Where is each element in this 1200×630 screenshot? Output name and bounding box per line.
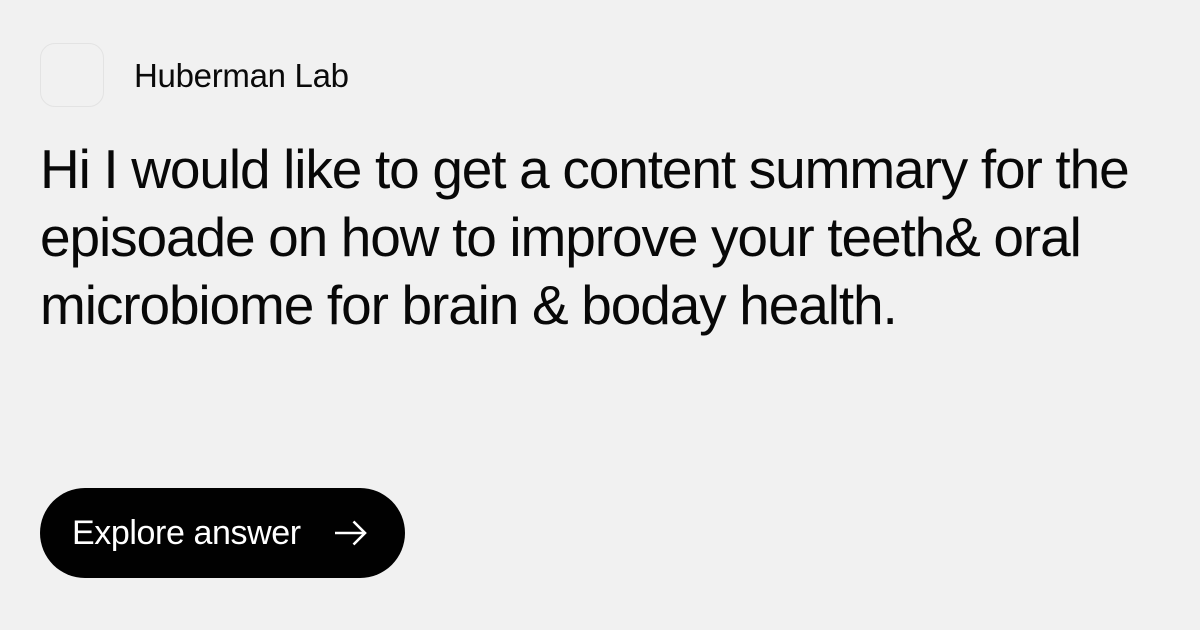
question-text: Hi I would like to get a content summary… [40, 135, 1165, 339]
source-row: Huberman Lab [40, 43, 1160, 107]
source-name: Huberman Lab [134, 59, 349, 92]
explore-answer-button[interactable]: Explore answer [40, 488, 405, 578]
cta-area: Explore answer [40, 488, 405, 578]
question-share-card: Huberman Lab Hi I would like to get a co… [0, 0, 1200, 630]
explore-answer-label: Explore answer [72, 516, 301, 550]
arrow-right-icon [331, 513, 371, 553]
podcast-avatar-placeholder-icon [40, 43, 104, 107]
